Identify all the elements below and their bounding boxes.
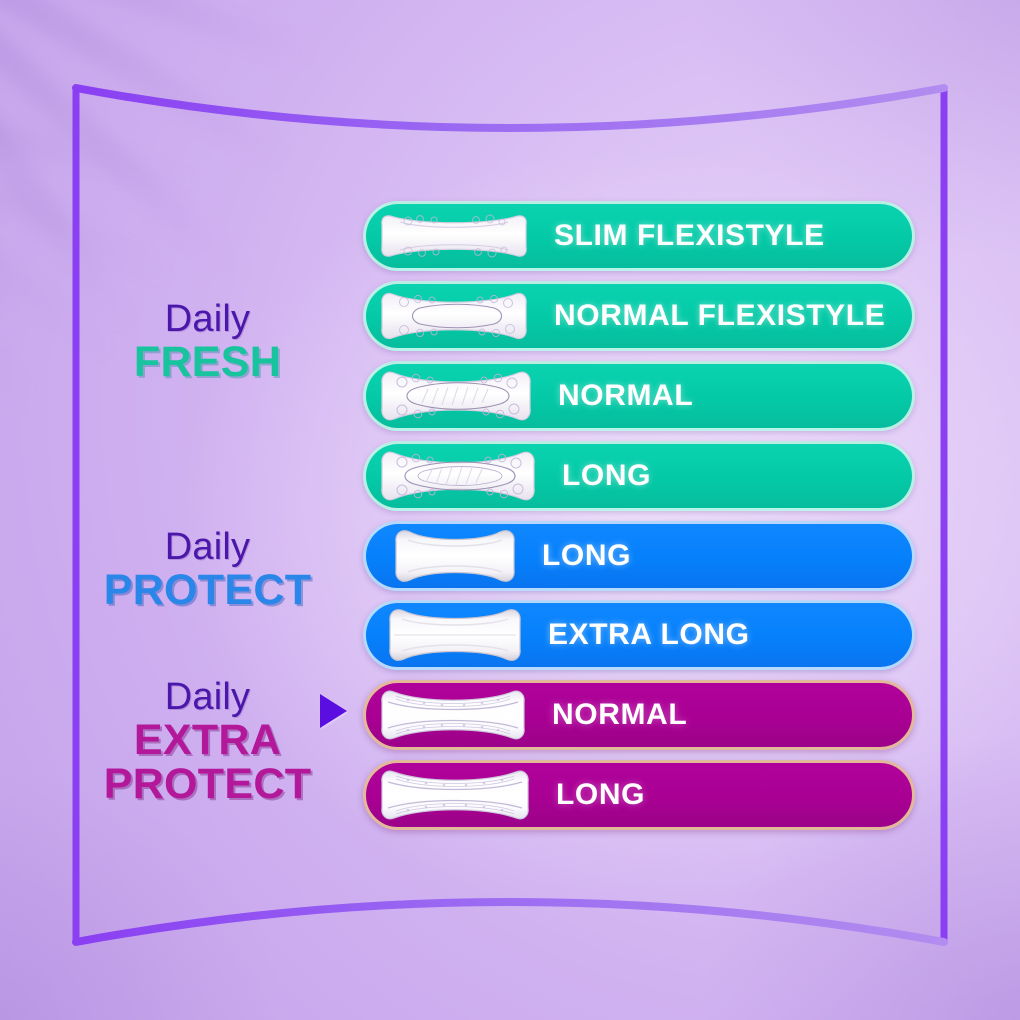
content-layer: Daily FRESH Daily PROTECT Daily EXTRA PR…	[0, 0, 1020, 1020]
product-label: SLIM FLEXISTYLE	[554, 219, 825, 253]
group-label-extra-protect: Daily EXTRA PROTECT	[95, 678, 320, 807]
product-label: NORMAL	[558, 379, 693, 413]
product-label: LONG	[556, 778, 645, 812]
pad-icon-textured-long	[380, 767, 530, 823]
product-row-long-fresh[interactable]: LONG	[363, 441, 915, 511]
pad-icon-lace-long	[380, 447, 536, 505]
group-kind-extra-line1: EXTRA	[95, 718, 320, 763]
pad-icon-lace-normal	[380, 288, 528, 344]
product-row-long-extra-protect[interactable]: LONG	[363, 760, 915, 830]
product-label: EXTRA LONG	[548, 618, 750, 652]
group-daily-word-fresh: Daily	[100, 300, 315, 340]
product-row-extra-long-protect[interactable]: EXTRA LONG	[363, 600, 915, 670]
pad-icon-textured-normal	[380, 687, 526, 743]
pad-icon-lace-normal-2	[380, 367, 532, 425]
product-label: NORMAL	[552, 698, 687, 732]
group-kind-extra-line2: PROTECT	[95, 762, 320, 807]
group-label-fresh: Daily FRESH	[100, 300, 315, 384]
product-range-infographic: Daily FRESH Daily PROTECT Daily EXTRA PR…	[0, 0, 1020, 1020]
group-daily-word-extra-protect: Daily	[95, 678, 320, 718]
play-triangle-icon	[320, 694, 347, 728]
product-label: LONG	[542, 539, 631, 573]
product-row-long-protect[interactable]: LONG	[363, 521, 915, 591]
product-row-slim-flexistyle[interactable]: SLIM FLEXISTYLE	[363, 201, 915, 271]
product-row-normal-fresh[interactable]: NORMAL	[363, 361, 915, 431]
product-label: LONG	[562, 459, 651, 493]
group-kind-fresh: FRESH	[100, 340, 315, 385]
pad-icon-lace-slim	[380, 209, 528, 263]
product-label: NORMAL FLEXISTYLE	[554, 299, 885, 333]
group-label-protect: Daily PROTECT	[95, 528, 320, 612]
pad-icon-plain-extra-long	[388, 607, 522, 663]
group-kind-protect: PROTECT	[95, 568, 320, 613]
pad-icon-plain-long	[394, 528, 516, 584]
product-row-normal-flexistyle[interactable]: NORMAL FLEXISTYLE	[363, 281, 915, 351]
group-daily-word-protect: Daily	[95, 528, 320, 568]
product-row-normal-extra-protect[interactable]: NORMAL	[363, 680, 915, 750]
